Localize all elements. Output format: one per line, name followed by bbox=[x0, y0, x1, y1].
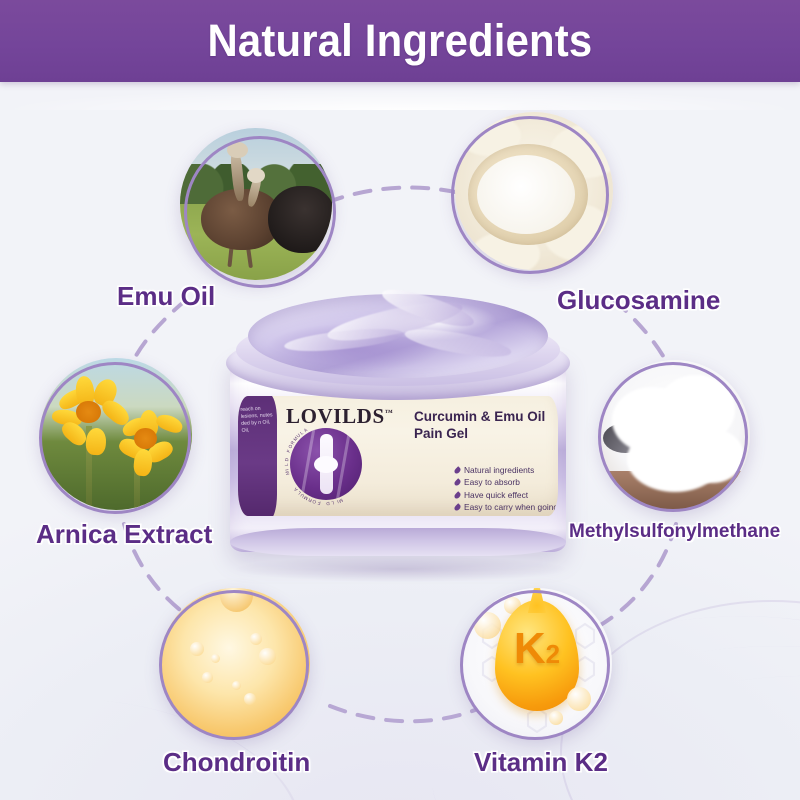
caption-arnica-extract: Arnica Extract bbox=[36, 519, 212, 550]
k2-label: K2 bbox=[462, 627, 612, 676]
ingredient-arnica-extract[interactable] bbox=[40, 358, 192, 510]
caption-glucosamine: Glucosamine bbox=[557, 285, 720, 316]
header-banner: Natural Ingredients bbox=[0, 0, 800, 82]
brand-text: LOVILDS bbox=[286, 404, 385, 428]
amber-gel-droplet-photo bbox=[160, 588, 310, 738]
infographic-canvas: Natural Ingredients reach on lesions, nu… bbox=[0, 0, 800, 800]
trademark-symbol: ™ bbox=[385, 408, 394, 417]
yellow-arnica-flowers-photo bbox=[40, 358, 192, 510]
k2-subscript: 2 bbox=[546, 639, 560, 669]
product-jar: reach on lesions, nutes ded by n Oil, Oi… bbox=[208, 268, 588, 568]
benefit-item: Easy to absorb bbox=[454, 476, 558, 488]
ingredient-emu-oil[interactable] bbox=[180, 128, 332, 280]
k2-letter: K bbox=[514, 624, 546, 673]
ingredient-methylsulfonylmethane[interactable] bbox=[600, 360, 750, 510]
ingredient-chondroitin[interactable] bbox=[160, 588, 310, 738]
label-left-text: reach on lesions, nutes ded by n Oil, Oi… bbox=[240, 405, 275, 435]
ingredient-glucosamine[interactable] bbox=[455, 112, 613, 270]
caption-chondroitin: Chondroitin bbox=[163, 747, 310, 778]
vitamin-k2-droplet-icon: K2 bbox=[462, 588, 612, 738]
benefit-list: Natural ingredients Easy to absorb Have … bbox=[414, 464, 558, 514]
caption-vitamin-k2: Vitamin K2 bbox=[474, 747, 608, 778]
caption-emu-oil: Emu Oil bbox=[117, 281, 215, 312]
benefit-item: Natural ingredients bbox=[454, 464, 558, 476]
brand-name: LOVILDS™ bbox=[286, 404, 406, 429]
page-title: Natural Ingredients bbox=[208, 15, 593, 67]
jar-gel-surface bbox=[248, 294, 548, 378]
jar-label: reach on lesions, nutes ded by n Oil, Oi… bbox=[238, 396, 558, 516]
emu-birds-photo bbox=[180, 128, 332, 280]
product-name: Curcumin & Emu Oil Pain Gel bbox=[414, 408, 558, 442]
benefit-item: Easy to carry when going out bbox=[454, 501, 558, 513]
white-powder-bowl-photo bbox=[455, 112, 613, 270]
label-left-panel: reach on lesions, nutes ded by n Oil, Oi… bbox=[238, 396, 277, 516]
arc-text-mild-formula: MILD FORMULA MILD FORMULA bbox=[282, 420, 370, 508]
ingredient-vitamin-k2[interactable]: K2 bbox=[462, 588, 612, 738]
white-crystal-powder-photo bbox=[600, 360, 750, 510]
benefit-item: Have quick effect bbox=[454, 489, 558, 501]
caption-methylsulfonylmethane: Methylsulfonylmethane bbox=[569, 521, 780, 543]
brand-wrap: LOVILDS™ bbox=[286, 404, 406, 429]
